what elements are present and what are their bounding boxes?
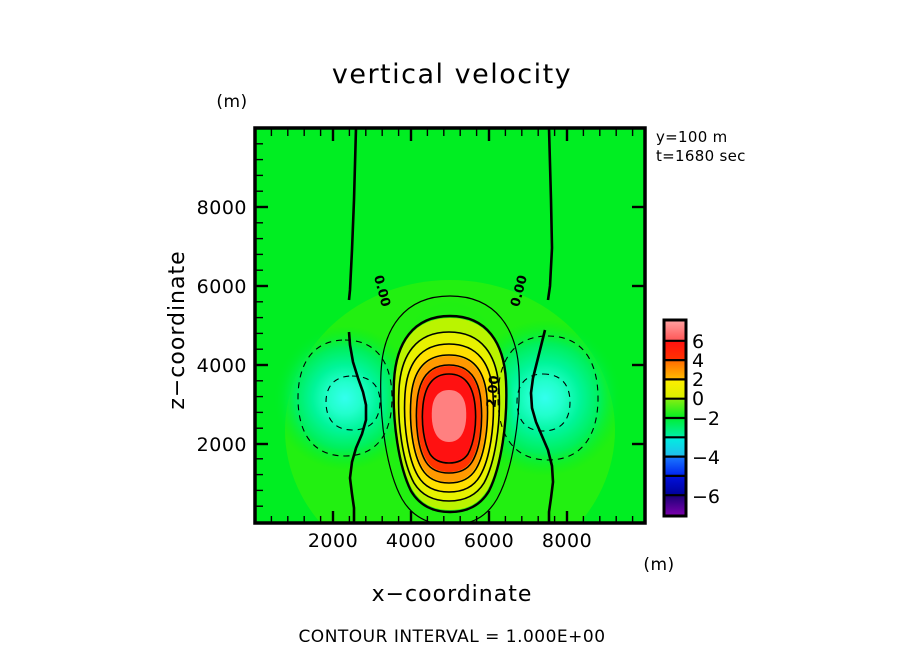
colorbar-band-9 bbox=[666, 495, 685, 514]
contour-interval-caption: CONTOUR INTERVAL = 1.000E+00 bbox=[298, 627, 605, 647]
y-tick-label-2: 6000 bbox=[197, 276, 247, 298]
plume-core-band bbox=[432, 390, 467, 442]
colorbar-band-0 bbox=[666, 322, 685, 341]
annotation-y-level: y=100 m bbox=[656, 128, 728, 146]
y-tick-label-1: 4000 bbox=[197, 355, 247, 377]
y-tick-label-0: 2000 bbox=[197, 434, 247, 456]
plot-title: vertical velocity bbox=[332, 59, 572, 90]
colorbar-band-2 bbox=[666, 360, 685, 379]
contour-plot-figure: vertical velocity (m) bbox=[0, 0, 904, 654]
x-tick-label-2: 6000 bbox=[464, 530, 514, 552]
annotation-time: t=1680 sec bbox=[656, 147, 746, 165]
colorbar-label-6: −6 bbox=[692, 486, 720, 508]
colorbar-label-4: −2 bbox=[692, 408, 720, 430]
x-axis-title: x−coordinate bbox=[372, 582, 533, 607]
y-tick-label-3: 8000 bbox=[197, 197, 247, 219]
colorbar-band-4 bbox=[666, 399, 685, 418]
colorbar-band-6 bbox=[666, 437, 685, 456]
x-axis-unit-label: (m) bbox=[643, 555, 674, 575]
colorbar-label-5: −4 bbox=[692, 447, 720, 469]
colorbar-band-7 bbox=[666, 457, 685, 476]
y-axis-title: z−coordinate bbox=[165, 250, 190, 409]
colorbar-band-5 bbox=[666, 418, 685, 437]
plot-area: 0.00 0.00 2.00 bbox=[255, 128, 645, 580]
colorbar-band-8 bbox=[666, 476, 685, 495]
colorbar-band-3 bbox=[666, 379, 685, 398]
x-tick-label-3: 8000 bbox=[542, 530, 592, 552]
y-axis-unit-label: (m) bbox=[216, 92, 247, 112]
figure-canvas: vertical velocity (m) bbox=[0, 0, 904, 654]
colorbar-band-1 bbox=[666, 341, 685, 360]
x-tick-label-1: 4000 bbox=[386, 530, 436, 552]
x-tick-label-0: 2000 bbox=[308, 530, 358, 552]
colorbar-label-3: 0 bbox=[692, 388, 704, 410]
